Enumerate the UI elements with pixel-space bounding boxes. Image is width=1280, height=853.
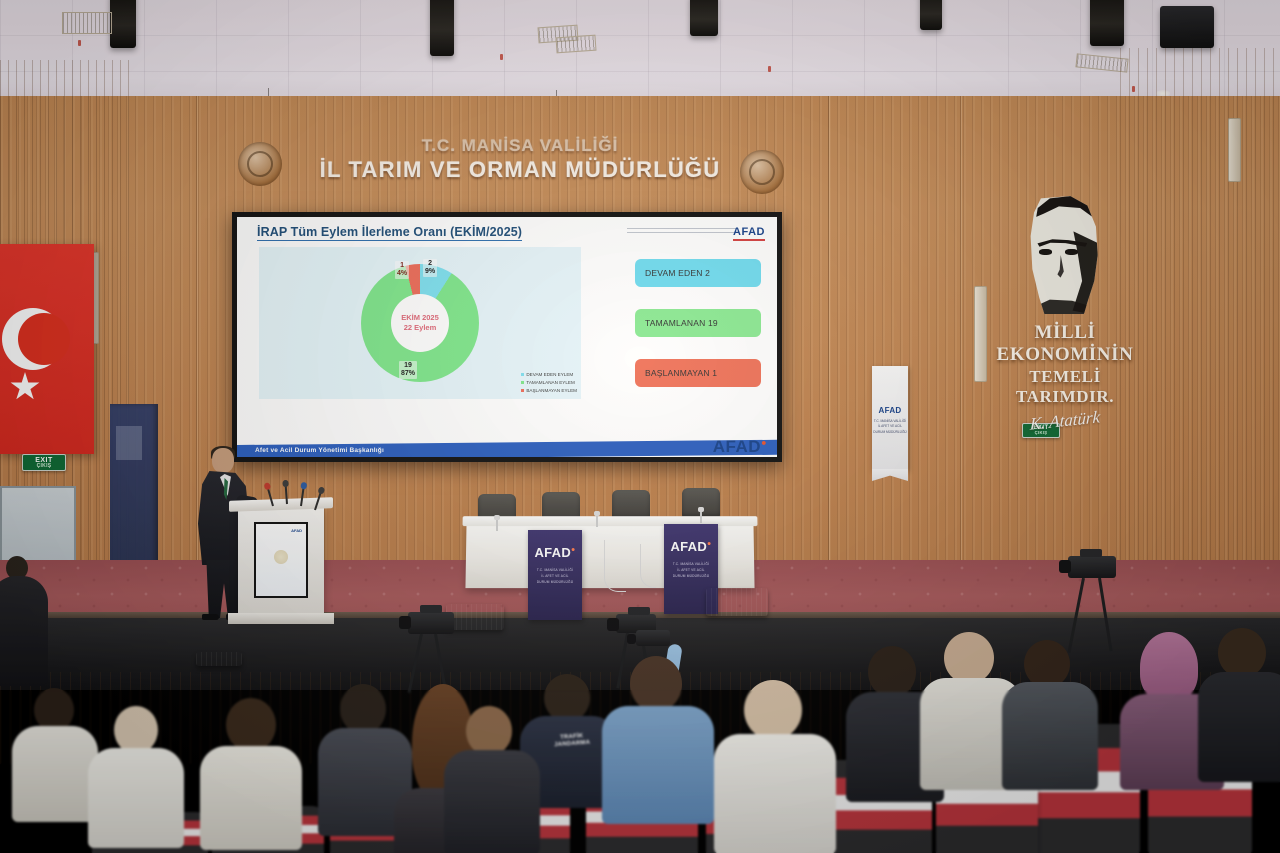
chart-legend: DEVAM EDEN EYLEM TAMAMLANAN EYLEM BAŞLAN… xyxy=(521,371,577,395)
presenter-head xyxy=(212,448,234,473)
afad-logo-dot-icon: ● xyxy=(571,547,576,554)
donut-label-tamamlanan: 19 87% xyxy=(399,361,417,379)
podium-emblem-icon xyxy=(274,550,288,564)
portrait-eye-right xyxy=(1065,249,1078,255)
ataturk-quote-line-2: EKONOMİNİN xyxy=(985,344,1145,366)
auditorium-photo: T.C. MANİSA VALİLİĞİ İL TARIM VE ORMAN M… xyxy=(0,0,1280,853)
table-microphone xyxy=(596,514,598,527)
audience-head xyxy=(630,656,682,712)
afad-standing-banner: AFAD T.C. MANİSA VALİLİĞİ İL AFET VE ACİ… xyxy=(872,366,908,470)
camera-lens-icon xyxy=(1059,560,1071,573)
afad-table-banner-left: AFAD● T.C. MANİSA VALİLİĞİ İL AFET VE AC… xyxy=(528,530,582,620)
projection-screen: İRAP Tüm Eylem İlerleme Oranı (EKİM/2025… xyxy=(232,212,782,462)
camera-lens-icon xyxy=(607,618,619,631)
ceiling-speaker xyxy=(1090,0,1124,46)
ataturk-quote-line-3: TEMELİ xyxy=(985,367,1145,387)
speaking-podium: AFAD xyxy=(238,506,324,616)
donut-label-baslanmayan-percent: 4% xyxy=(397,270,407,278)
audience-head xyxy=(226,698,276,752)
stage-monitor-speaker xyxy=(196,652,242,666)
afad-table-banner-logo: AFAD● xyxy=(664,540,718,553)
camera-lens-icon xyxy=(627,634,636,644)
podium-base xyxy=(228,613,334,624)
flag-crescent-icon xyxy=(2,308,64,370)
audience-head xyxy=(868,646,916,698)
wall-panel-seam xyxy=(960,96,962,566)
ceiling-speaker xyxy=(110,0,136,48)
audience-torso xyxy=(12,726,98,822)
camera-body xyxy=(1068,556,1116,578)
afad-table-banner-sub: T.C. MANİSA VALİLİĞİ İL AFET VE ACİL DUR… xyxy=(664,561,718,579)
legend-swatch-devam-eden xyxy=(521,373,524,376)
audience-head xyxy=(944,632,994,684)
ataturk-wall-panel: MİLLİ EKONOMİNİN TEMELİ TARIMDIR. K. Ata… xyxy=(985,196,1145,426)
kpi-devam-eden: DEVAM EDEN 2 xyxy=(635,259,761,287)
audience-head xyxy=(1218,628,1266,678)
audience-head xyxy=(340,684,386,734)
portrait-eye-left xyxy=(1039,249,1052,255)
legend-swatch-baslanmayan xyxy=(521,389,524,392)
ceiling-speaker xyxy=(690,0,718,36)
audience-head xyxy=(544,674,590,722)
flag-star-icon xyxy=(10,372,40,402)
ataturk-quote-line-1: MİLLİ xyxy=(985,322,1145,344)
donut-label-devam-eden-percent: 9% xyxy=(425,268,435,276)
afad-banner-logo: AFAD xyxy=(872,406,908,415)
audience-torso xyxy=(714,734,836,853)
legend-item-devam-eden: DEVAM EDEN EYLEM xyxy=(521,371,577,379)
ceiling-sprinkler xyxy=(78,40,81,46)
table-cable xyxy=(640,544,656,588)
table-cable xyxy=(604,540,626,592)
table-microphone xyxy=(496,518,498,531)
podium-front-display: AFAD xyxy=(254,522,308,598)
donut-center-label: EKİM 2025 22 Eylem xyxy=(391,294,449,352)
afad-banner-sub: T.C. MANİSA VALİLİĞİ İL AFET VE ACİL DUR… xyxy=(872,419,908,435)
ceiling-speaker xyxy=(430,0,454,56)
legend-label-devam-eden: DEVAM EDEN EYLEM xyxy=(526,372,573,377)
kpi-baslanmayan-label: BAŞLANMAYAN 1 xyxy=(645,368,717,378)
stage-monitor-speaker xyxy=(706,588,768,616)
camera-handle xyxy=(628,607,650,615)
audience-head xyxy=(1024,640,1070,688)
afad-table-banner-logo: AFAD● xyxy=(528,546,582,559)
audience-head xyxy=(744,680,802,740)
ceiling-air-vent xyxy=(555,35,596,54)
legend-item-baslanmayan: BAŞLANMAYAN EYLEM xyxy=(521,387,577,395)
podium-afad-logo: AFAD xyxy=(291,528,302,533)
wall-heading-line1: T.C. MANİSA VALİLİĞİ xyxy=(290,136,750,156)
legend-label-baslanmayan: BAŞLANMAYAN EYLEM xyxy=(526,388,577,393)
donut-center-line-2: 22 Eylem xyxy=(404,323,437,333)
podium-display-content: AFAD xyxy=(256,524,306,596)
stage-monitor-speaker xyxy=(446,604,504,630)
ataturk-quote: MİLLİ EKONOMİNİN TEMELİ TARIMDIR. xyxy=(985,322,1145,407)
donut-label-baslanmayan-value: 1 xyxy=(397,262,407,270)
camera-lens-icon xyxy=(399,616,411,629)
audience-head xyxy=(114,706,158,754)
audience-torso xyxy=(1198,672,1280,782)
wall-light-fixture xyxy=(1228,118,1241,182)
legend-swatch-tamamlanan xyxy=(521,381,524,384)
slide-title: İRAP Tüm Eylem İlerleme Oranı (EKİM/2025… xyxy=(257,225,522,241)
chart-panel: EKİM 2025 22 Eylem 1 4% 2 9% 19 87% xyxy=(259,247,581,399)
portrait-hair xyxy=(1027,196,1103,236)
presenter-shoe-left xyxy=(202,614,219,620)
afad-logo-dot-icon: ● xyxy=(707,541,712,548)
kpi-baslanmayan: BAŞLANMAYAN 1 xyxy=(635,359,761,387)
donut-center-line-1: EKİM 2025 xyxy=(401,313,439,323)
legend-item-tamamlanan: TAMAMLANAN EYLEM xyxy=(521,379,577,387)
camera-handle xyxy=(420,605,442,613)
exit-sign-sublabel: ÇIKIŞ xyxy=(37,464,52,469)
ceiling-speaker xyxy=(920,0,942,30)
kpi-tamamlanan: TAMAMLANAN 19 xyxy=(635,309,761,337)
kpi-tamamlanan-label: TAMAMLANAN 19 xyxy=(645,318,718,328)
slide-afad-logo-bottom-text: AFAD xyxy=(713,437,761,456)
audience-torso xyxy=(1002,682,1098,790)
afad-table-banner-logo-text: AFAD xyxy=(670,539,707,554)
audience-torso xyxy=(200,746,302,850)
ataturk-portrait-icon xyxy=(1022,196,1108,314)
ceiling-sprinkler xyxy=(500,54,503,60)
afad-logo-dot-icon: ● xyxy=(761,437,767,447)
ataturk-quote-line-4: TARIMDIR. xyxy=(985,387,1145,407)
donut-chart: EKİM 2025 22 Eylem xyxy=(361,264,479,382)
audience-torso xyxy=(88,748,184,848)
slide-footer: Afet ve Acil Durum Yönetimi Başkanlığı A… xyxy=(237,435,777,457)
audience-torso xyxy=(0,576,48,686)
audience-head xyxy=(466,706,512,756)
audience-torso xyxy=(602,706,714,824)
slide-afad-logo-bottom: AFAD● xyxy=(713,438,767,455)
kpi-devam-eden-label: DEVAM EDEN 2 xyxy=(645,268,710,278)
camera-body xyxy=(636,630,670,646)
ceiling-sprinkler xyxy=(768,66,771,72)
camera-handle xyxy=(1080,549,1102,557)
afad-table-banner-sub: T.C. MANİSA VALİLİĞİ İL AFET VE ACİL DUR… xyxy=(528,567,582,585)
wall-panel-seam xyxy=(828,96,830,566)
donut-label-devam-eden-value: 2 xyxy=(425,260,435,268)
slide-afad-logo-top: AFAD xyxy=(733,227,765,241)
wall-heading-line2: İL TARIM VE ORMAN MÜDÜRLÜĞÜ xyxy=(290,157,750,183)
wall-heading: T.C. MANİSA VALİLİĞİ İL TARIM VE ORMAN M… xyxy=(290,136,750,183)
audience-torso xyxy=(444,750,540,853)
afad-table-banner-logo-text: AFAD xyxy=(534,545,571,560)
slide-footer-text: Afet ve Acil Durum Yönetimi Başkanlığı xyxy=(255,447,384,454)
donut-label-devam-eden: 2 9% xyxy=(423,259,437,277)
slide-header-ministry-text xyxy=(627,228,737,236)
audience-head xyxy=(1140,632,1198,702)
turkish-flag xyxy=(0,244,94,454)
table-microphone xyxy=(700,510,702,523)
ceiling-projector xyxy=(1160,6,1214,48)
banner-sub-line-3: DURUM MÜDÜRLÜĞÜ xyxy=(872,430,908,435)
donut-label-baslanmayan: 1 4% xyxy=(395,261,409,279)
presentation-slide: İRAP Tüm Eylem İlerleme Oranı (EKİM/2025… xyxy=(237,217,777,457)
ceiling-air-vent xyxy=(62,12,112,34)
exit-sign-left: EXIT ÇIKIŞ xyxy=(22,454,66,471)
legend-label-tamamlanan: TAMAMLANAN EYLEM xyxy=(526,380,574,385)
wall-emblem-left xyxy=(238,142,282,186)
table-banner-sub-line-3: DURUM MÜDÜRLÜĞÜ xyxy=(664,573,718,579)
donut-label-tamamlanan-value: 19 xyxy=(401,362,415,370)
camera-body xyxy=(408,612,454,634)
donut-label-tamamlanan-percent: 87% xyxy=(401,370,415,378)
table-banner-sub-line-3: DURUM MÜDÜRLÜĞÜ xyxy=(528,579,582,585)
portrait-nose xyxy=(1056,255,1066,279)
